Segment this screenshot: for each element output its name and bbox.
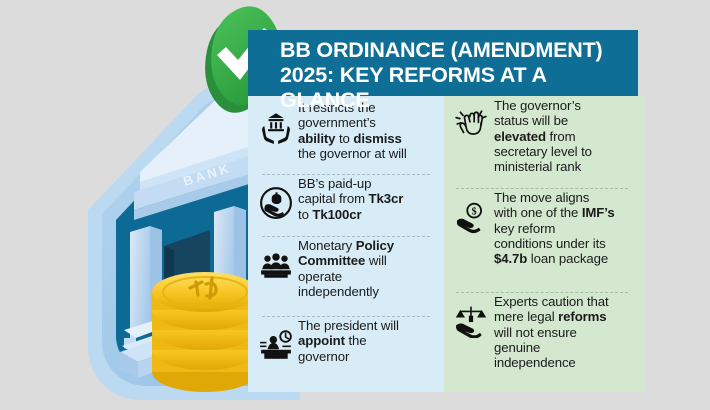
hand-with-coin-circle-icon: [254, 176, 298, 226]
infographic-canvas: BANK: [0, 0, 710, 410]
item-divider: [262, 316, 430, 317]
item-divider: [262, 236, 430, 237]
committee-people-icon: [254, 238, 298, 288]
gold-coin-stack: [152, 272, 258, 392]
president-desk-clock-icon: [254, 318, 298, 368]
hand-with-dollar-coin-icon: $: [448, 190, 494, 240]
hand-holding-scales-icon: [448, 294, 494, 344]
item-divider: [456, 292, 628, 293]
header-banner: BB ORDINANCE (AMENDMENT) 2025: KEY REFOR…: [248, 30, 638, 96]
page-title: BB ORDINANCE (AMENDMENT) 2025: KEY REFOR…: [280, 38, 638, 113]
right-column-items: The governor’sstatus will beelevated fro…: [444, 96, 645, 392]
reform-item: $ The move alignswith one of the IMF’ske…: [444, 190, 645, 290]
reform-item-text: The president willappoint thegovernor: [298, 318, 399, 364]
reform-item-text: Experts caution thatmere legal reformswi…: [494, 294, 609, 370]
left-column-items: It restricts thegovernment’sability to d…: [248, 96, 444, 392]
reform-item: Experts caution thatmere legal reformswi…: [444, 294, 645, 386]
svg-text:$: $: [472, 206, 477, 217]
item-divider: [262, 174, 430, 175]
reform-item-text: BB’s paid-upcapital from Tk3crto Tk100cr: [298, 176, 403, 222]
reform-item-text: Monetary PolicyCommittee willoperateinde…: [298, 238, 394, 299]
item-divider: [456, 188, 628, 189]
reform-item: BB’s paid-upcapital from Tk3crto Tk100cr: [248, 176, 444, 234]
reform-item-text: The move alignswith one of the IMF’skey …: [494, 190, 615, 266]
right-column-panel: The governor’sstatus will beelevated fro…: [444, 96, 645, 392]
left-column-panel: It restricts thegovernment’sability to d…: [248, 96, 444, 392]
reform-item: Monetary PolicyCommittee willoperateinde…: [248, 238, 444, 314]
reform-item: The president willappoint thegovernor: [248, 318, 444, 380]
